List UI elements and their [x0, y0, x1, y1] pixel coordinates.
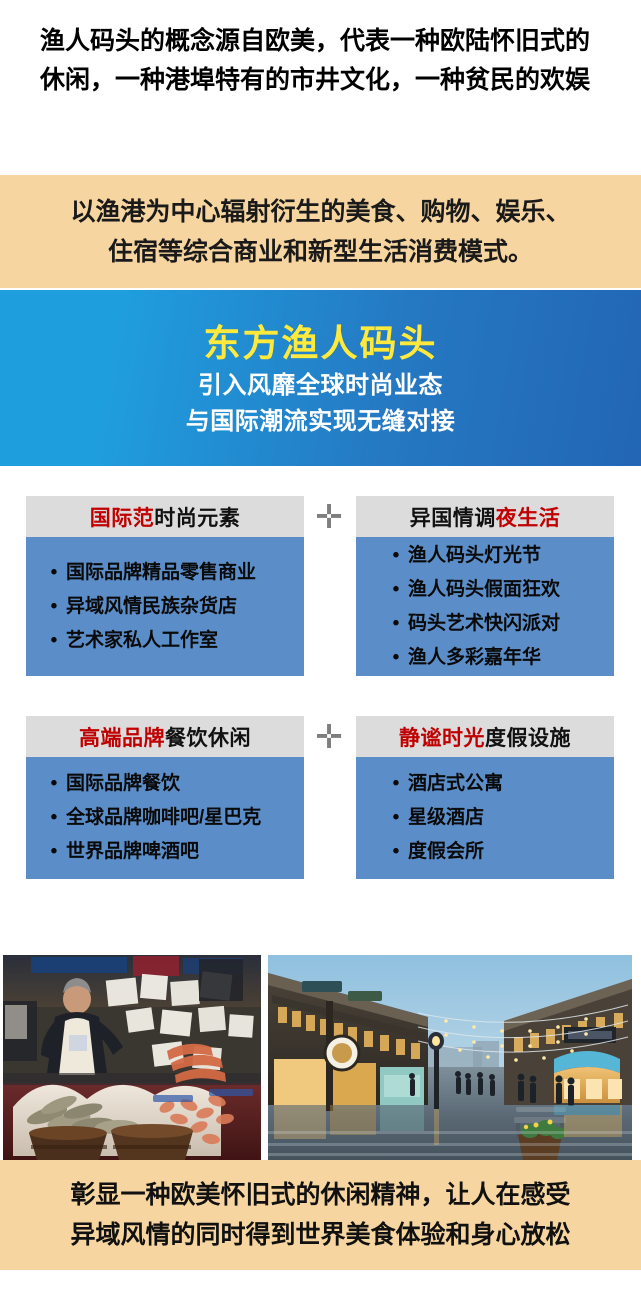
bullet-icon: • [384, 801, 408, 835]
list-item-label: 国际品牌精品零售商业 [66, 556, 256, 590]
plus-icon: ✛ [311, 716, 347, 757]
bullet-icon: • [42, 835, 66, 869]
highlight-banner-bottom-line-2: 异域风情的同时得到世界美食体验和身心放松 [70, 1215, 570, 1255]
list-item-label: 星级酒店 [408, 801, 484, 835]
feature-card-resort: 静谧时光度假设施 •酒店式公寓 •星级酒店 •度假会所 [356, 716, 614, 879]
feature-card-dining-list: •国际品牌餐饮 •全球品牌咖啡吧/星巴克 •世界品牌啤酒吧 [26, 767, 304, 869]
waterfront-street-illustration [268, 955, 632, 1160]
feature-card-resort-body: •酒店式公寓 •星级酒店 •度假会所 [356, 757, 614, 879]
feature-card-nightlife-header: 异国情调夜生活 [356, 496, 614, 537]
intro-paragraph: 渔人码头的概念源自欧美，代表一种欧陆怀旧式的休闲，一种港埠特有的市井文化，一种贫… [40, 22, 610, 100]
list-item-label: 世界品牌啤酒吧 [66, 835, 199, 869]
feature-card-dining-header-highlight: 高端品牌 [79, 722, 165, 752]
list-item: •异域风情民族杂货店 [42, 590, 304, 624]
highlight-banner-bottom: 彰显一种欧美怀旧式的休闲精神，让人在感受 异域风情的同时得到世界美食体验和身心放… [0, 1160, 641, 1270]
fish-market-vendor-photo [3, 955, 261, 1160]
feature-card-fashion-header: 国际范时尚元素 [26, 496, 304, 537]
hero-subtitle-line-1: 引入风靡全球时尚业态 [198, 368, 443, 404]
list-item-label: 酒店式公寓 [408, 767, 503, 801]
list-item-label: 艺术家私人工作室 [66, 624, 218, 658]
list-item: •渔人码头假面狂欢 [384, 573, 614, 607]
hero-title: 东方渔人码头 [204, 320, 438, 368]
list-item: •星级酒店 [384, 801, 614, 835]
feature-card-fashion: 国际范时尚元素 •国际品牌精品零售商业 •异域风情民族杂货店 •艺术家私人工作室 [26, 496, 304, 676]
hero-banner: 东方渔人码头 引入风靡全球时尚业态 与国际潮流实现无缝对接 [0, 290, 641, 466]
list-item: •国际品牌餐饮 [42, 767, 304, 801]
list-item-label: 度假会所 [408, 835, 484, 869]
bullet-icon: • [384, 607, 408, 641]
feature-card-nightlife-header-rest: 异国情调 [410, 502, 496, 532]
list-item-label: 码头艺术快闪派对 [408, 607, 560, 641]
photo-strip [0, 955, 641, 1160]
bullet-icon: • [384, 573, 408, 607]
bullet-icon: • [384, 835, 408, 869]
list-item: •艺术家私人工作室 [42, 624, 304, 658]
list-item: •酒店式公寓 [384, 767, 614, 801]
feature-card-fashion-body: •国际品牌精品零售商业 •异域风情民族杂货店 •艺术家私人工作室 [26, 537, 304, 676]
feature-card-nightlife-list: •渔人码头灯光节 •渔人码头假面狂欢 •码头艺术快闪派对 •渔人多彩嘉年华 [356, 539, 614, 675]
feature-card-dining-header-rest: 餐饮休闲 [165, 722, 251, 752]
bullet-icon: • [384, 539, 408, 573]
feature-card-dining-body: •国际品牌餐饮 •全球品牌咖啡吧/星巴克 •世界品牌啤酒吧 [26, 757, 304, 879]
feature-card-resort-header-rest: 度假设施 [485, 722, 571, 752]
bullet-icon: • [42, 801, 66, 835]
fish-market-vendor-illustration [3, 955, 261, 1160]
list-item: •码头艺术快闪派对 [384, 607, 614, 641]
bullet-icon: • [384, 641, 408, 675]
list-item: •国际品牌精品零售商业 [42, 556, 304, 590]
hero-subtitle-line-2: 与国际潮流实现无缝对接 [186, 404, 456, 440]
feature-grid-row-2: 高端品牌餐饮休闲 •国际品牌餐饮 •全球品牌咖啡吧/星巴克 •世界品牌啤酒吧 ✛… [0, 716, 641, 916]
highlight-banner-top: 以渔港为中心辐射衍生的美食、购物、娱乐、 住宿等综合商业和新型生活消费模式。 [0, 175, 641, 288]
highlight-banner-top-line-1: 以渔港为中心辐射衍生的美食、购物、娱乐、 [70, 192, 570, 232]
list-item: •渔人多彩嘉年华 [384, 641, 614, 675]
bullet-icon: • [42, 624, 66, 658]
feature-card-fashion-list: •国际品牌精品零售商业 •异域风情民族杂货店 •艺术家私人工作室 [26, 556, 304, 658]
poster-page: 渔人码头的概念源自欧美，代表一种欧陆怀旧式的休闲，一种港埠特有的市井文化，一种贫… [0, 0, 641, 1295]
bullet-icon: • [42, 767, 66, 801]
bullet-icon: • [42, 590, 66, 624]
feature-card-dining-header: 高端品牌餐饮休闲 [26, 716, 304, 757]
waterfront-shopping-street-photo [268, 955, 632, 1160]
feature-card-resort-list: •酒店式公寓 •星级酒店 •度假会所 [356, 767, 614, 869]
list-item-label: 全球品牌咖啡吧/星巴克 [66, 801, 261, 835]
list-item: •世界品牌啤酒吧 [42, 835, 304, 869]
list-item-label: 渔人码头灯光节 [408, 539, 541, 573]
feature-card-nightlife: 异国情调夜生活 •渔人码头灯光节 •渔人码头假面狂欢 •码头艺术快闪派对 •渔人… [356, 496, 614, 676]
feature-card-dining: 高端品牌餐饮休闲 •国际品牌餐饮 •全球品牌咖啡吧/星巴克 •世界品牌啤酒吧 [26, 716, 304, 879]
feature-card-fashion-header-rest: 时尚元素 [154, 502, 240, 532]
feature-card-fashion-header-highlight: 国际范 [90, 502, 155, 532]
list-item: •全球品牌咖啡吧/星巴克 [42, 801, 304, 835]
list-item-label: 渔人码头假面狂欢 [408, 573, 560, 607]
bullet-icon: • [42, 556, 66, 590]
list-item-label: 渔人多彩嘉年华 [408, 641, 541, 675]
list-item-label: 异域风情民族杂货店 [66, 590, 237, 624]
list-item: •度假会所 [384, 835, 614, 869]
feature-grid: 国际范时尚元素 •国际品牌精品零售商业 •异域风情民族杂货店 •艺术家私人工作室… [0, 496, 641, 916]
highlight-banner-top-line-2: 住宿等综合商业和新型生活消费模式。 [108, 232, 533, 272]
list-item-label: 国际品牌餐饮 [66, 767, 180, 801]
feature-card-nightlife-body: •渔人码头灯光节 •渔人码头假面狂欢 •码头艺术快闪派对 •渔人多彩嘉年华 [356, 537, 614, 676]
highlight-banner-bottom-line-1: 彰显一种欧美怀旧式的休闲精神，让人在感受 [70, 1175, 570, 1215]
plus-icon: ✛ [311, 496, 347, 537]
feature-grid-row-1: 国际范时尚元素 •国际品牌精品零售商业 •异域风情民族杂货店 •艺术家私人工作室… [0, 496, 641, 716]
feature-card-nightlife-header-highlight: 夜生活 [496, 502, 561, 532]
list-item: •渔人码头灯光节 [384, 539, 614, 573]
feature-card-resort-header: 静谧时光度假设施 [356, 716, 614, 757]
feature-card-resort-header-highlight: 静谧时光 [399, 722, 485, 752]
bullet-icon: • [384, 767, 408, 801]
